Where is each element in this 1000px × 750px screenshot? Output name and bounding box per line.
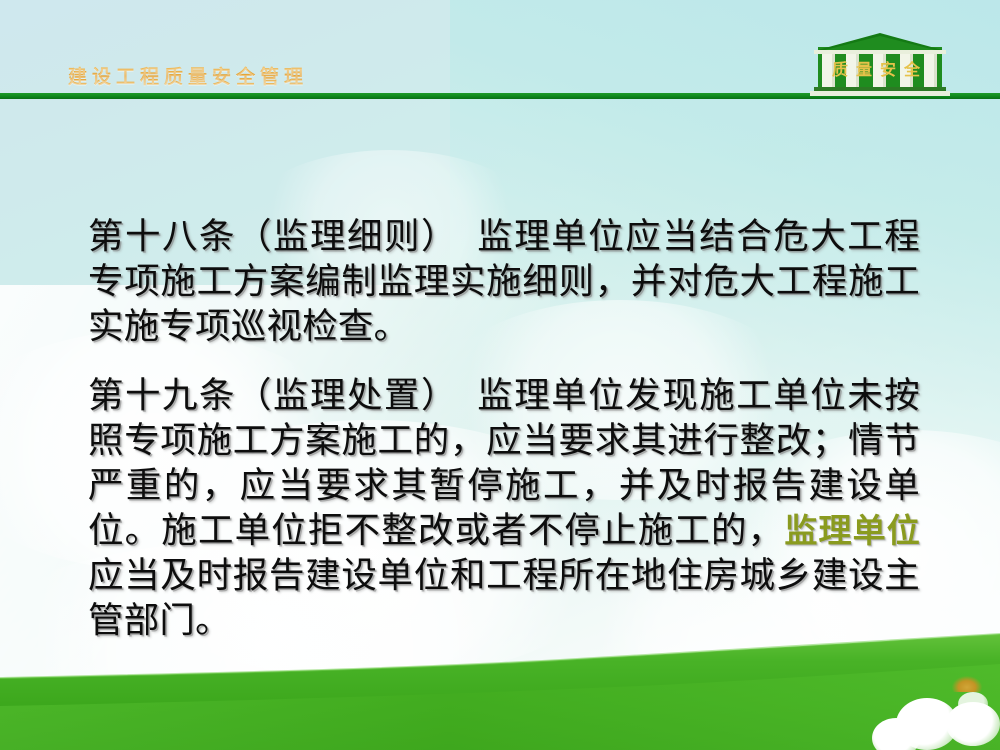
presentation-slide: 建设工程质量安全管理 xyxy=(0,0,1000,750)
article-18-spacer xyxy=(440,216,477,256)
quality-safety-temple-logo: 质量安全 xyxy=(806,31,954,97)
article-19-heading: 第十九条（监理处置） xyxy=(88,375,440,415)
article-18-heading: 第十八条（监理细则） xyxy=(88,216,440,256)
slide-header-title: 建设工程质量安全管理 xyxy=(68,62,308,89)
article-19-spacer xyxy=(440,375,477,415)
svg-text:质量安全: 质量安全 xyxy=(832,60,928,79)
grass-field-decoration xyxy=(0,620,1000,750)
article-19-emphasis: 监理单位 xyxy=(784,511,920,550)
slide-body-text: 第十八条（监理细则） 监理单位应当结合危大工程专项施工方案编制监理实施细则，并对… xyxy=(88,214,920,643)
paragraph-article-18: 第十八条（监理细则） 监理单位应当结合危大工程专项施工方案编制监理实施细则，并对… xyxy=(88,214,920,349)
paragraph-article-19: 第十九条（监理处置） 监理单位发现施工单位未按照专项施工方案施工的，应当要求其进… xyxy=(88,373,920,643)
